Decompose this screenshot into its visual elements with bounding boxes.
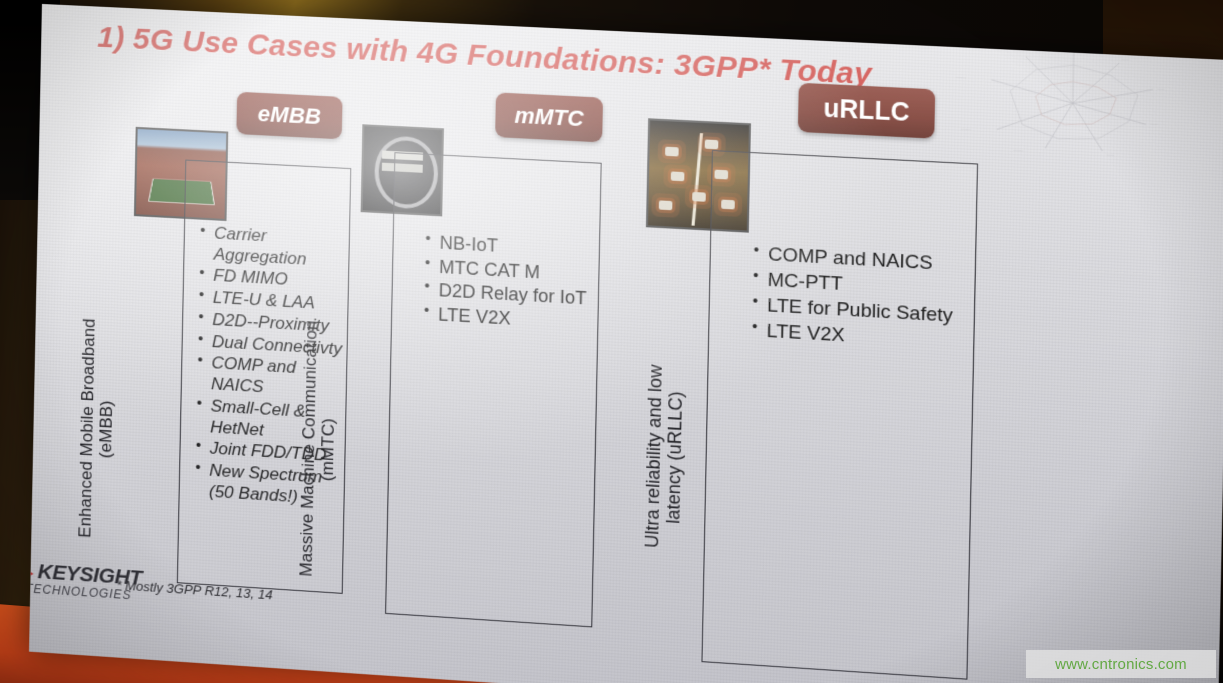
list-item: COMP and NAICS <box>211 353 349 403</box>
bullet-list-mmtc: NB-IoT MTC CAT M D2D Relay for IoT LTE V… <box>422 231 605 337</box>
road-lane-marking <box>691 133 703 225</box>
page-title: 1) 5G Use Cases with 4G Foundations: 3GP… <box>97 21 872 93</box>
svg-text:........: ........ <box>1150 122 1158 127</box>
svg-text:.......: ....... <box>1157 87 1164 91</box>
svg-text:..........: .......... <box>961 127 971 132</box>
axis-label-urllc: Ultra reliability and low latency (uRLLC… <box>640 288 689 627</box>
badge-urllc[interactable]: uRLLC <box>798 83 935 139</box>
list-item: Carrier Aggregation <box>213 223 351 272</box>
vehicle <box>692 192 706 202</box>
spider-chart-watermark: ......... ........ ....... ........ ....… <box>948 41 1200 169</box>
photo-of-projected-slide: 1) 5G Use Cases with 4G Foundations: 3GP… <box>0 0 1223 683</box>
site-watermark: www.cntronics.com <box>1026 650 1216 678</box>
list-item: Small-Cell & HetNet <box>210 396 348 446</box>
svg-text:.........: ......... <box>1060 45 1069 50</box>
bullet-list-urllc: COMP and NAICS MC-PTT LTE for Public Saf… <box>750 242 963 356</box>
keysight-arrow-icon <box>29 567 34 580</box>
badge-mmtc[interactable]: mMTC <box>495 92 603 142</box>
vehicle <box>665 146 679 156</box>
vehicle <box>705 140 719 150</box>
bullet-list-embb: Carrier Aggregation FD MIMO LTE-U & LAA … <box>193 223 351 512</box>
column-box-urllc <box>701 150 978 680</box>
projection-screen-wrapper: 1) 5G Use Cases with 4G Foundations: 3GP… <box>0 0 1223 683</box>
badge-embb[interactable]: eMBB <box>236 92 342 140</box>
column-box-mmtc <box>385 152 602 627</box>
slide-content: 1) 5G Use Cases with 4G Foundations: 3GP… <box>29 4 1223 683</box>
axis-label-embb: Enhanced Mobile Broadband (eMBB) <box>74 262 119 595</box>
svg-text:.......: ....... <box>1107 152 1114 156</box>
svg-text:...........: ........... <box>956 75 967 80</box>
vehicle <box>658 201 672 211</box>
vehicle <box>671 172 685 182</box>
list-item: New Spectrum (50 Bands!) <box>209 461 347 511</box>
projection-screen: 1) 5G Use Cases with 4G Foundations: 3GP… <box>29 4 1223 683</box>
svg-text:........: ........ <box>1121 57 1129 62</box>
site-watermark-text: www.cntronics.com <box>1055 656 1187 673</box>
svg-text:..........: .......... <box>1013 148 1023 153</box>
